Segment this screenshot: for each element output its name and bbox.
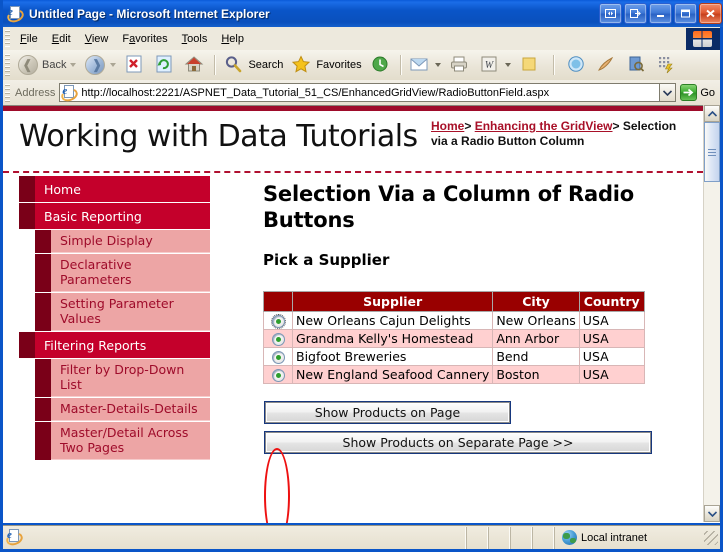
page-body: Home Basic Reporting Simple Display — [3, 173, 703, 521]
restore-pane-button[interactable] — [599, 3, 622, 24]
refresh-icon — [154, 54, 176, 76]
resize-grip[interactable] — [704, 531, 718, 545]
sidebar-accent-bar — [35, 422, 51, 460]
sidebar-item-filter-by-drop-down-list[interactable]: Filter by Drop-Down List — [19, 359, 210, 397]
title-bar: e Untitled Page - Microsoft Internet Exp… — [3, 0, 723, 27]
content-heading: Selection Via a Column of Radio Buttons — [263, 181, 681, 233]
cell-city: New Orleans — [493, 312, 579, 330]
sidebar-item-master-details-details[interactable]: Master-Details-Details — [19, 398, 210, 421]
column-header-country: Country — [579, 292, 644, 312]
addressbar-grip[interactable] — [5, 84, 10, 102]
sidebar-accent-bar — [35, 230, 51, 253]
edit-word-icon: W — [479, 54, 501, 76]
radio-button-row-4[interactable] — [272, 369, 285, 382]
sidebar-accent-bar — [35, 398, 51, 421]
encarta-icon — [656, 54, 678, 76]
menu-bar: File Edit View Favorites Tools Help — [3, 27, 720, 51]
home-icon — [184, 54, 206, 76]
sidebar-indent — [19, 293, 35, 331]
toolbar-separator — [214, 55, 215, 75]
show-products-on-page-button[interactable]: Show Products on Page — [265, 402, 510, 423]
chevron-down-icon — [663, 90, 672, 96]
sidebar-indent — [19, 422, 35, 460]
history-icon — [370, 54, 392, 76]
page-canvas: Working with Data Tutorials Home> Enhanc… — [3, 106, 703, 523]
stop-icon — [124, 54, 146, 76]
breadcrumb-sep-1: > — [464, 119, 471, 133]
breadcrumb-sep-2: > — [613, 119, 620, 133]
sidebar-item-declarative-parameters[interactable]: Declarative Parameters — [19, 254, 210, 292]
notes-icon — [519, 54, 541, 76]
cell-country: USA — [579, 366, 644, 384]
column-header-supplier: Supplier — [293, 292, 493, 312]
page-status-icon: e — [7, 529, 24, 546]
favorites-label: Favorites — [316, 59, 361, 71]
cell-supplier: New England Seafood Cannery — [293, 366, 493, 384]
favorites-button[interactable]: Favorites — [288, 53, 364, 77]
menu-favorites[interactable]: Favorites — [115, 30, 174, 48]
sidebar-label: Master-Details-Details — [51, 398, 210, 421]
menu-tools[interactable]: Tools — [175, 30, 215, 48]
back-label: Back — [42, 59, 66, 71]
breadcrumb-link-home[interactable]: Home — [431, 119, 464, 133]
status-segment-1 — [466, 527, 488, 549]
toolbar-separator-3 — [553, 55, 554, 75]
page-title: Working with Data Tutorials — [19, 119, 418, 154]
radio-button-row-1[interactable] — [272, 315, 285, 328]
cell-supplier: Grandma Kelly's Homestead — [293, 330, 493, 348]
security-zone-indicator[interactable]: Local intranet — [554, 527, 704, 549]
mail-icon — [409, 54, 431, 76]
address-url-text: http://localhost:2221/ASPNET_Data_Tutori… — [81, 87, 659, 99]
sidebar-item-setting-parameter-values[interactable]: Setting Parameter Values — [19, 293, 210, 331]
row-select-cell[interactable] — [264, 366, 293, 384]
window-title: Untitled Page - Microsoft Internet Explo… — [29, 7, 270, 21]
table-row: Grandma Kelly's Homestead Ann Arbor USA — [264, 330, 645, 348]
messenger-button[interactable] — [563, 53, 591, 77]
go-button[interactable]: Go — [676, 84, 720, 101]
cell-supplier: Bigfoot Breweries — [293, 348, 493, 366]
breadcrumb-link-enhancing-gridview[interactable]: Enhancing the GridView — [475, 119, 613, 133]
radio-button-row-3[interactable] — [272, 351, 285, 364]
sidebar-item-master-detail-across-two-pages[interactable]: Master/Detail Across Two Pages — [19, 422, 210, 460]
scroll-down-button[interactable] — [704, 505, 720, 522]
sidebar-item-simple-display[interactable]: Simple Display — [19, 230, 210, 253]
sidebar-indent — [19, 398, 35, 421]
thumb-grip-icon — [708, 149, 716, 156]
main-content: Selection Via a Column of Radio Buttons … — [261, 173, 681, 462]
cell-country: USA — [579, 312, 644, 330]
sidebar-label: Basic Reporting — [35, 209, 142, 224]
chevron-up-icon — [708, 111, 717, 117]
address-label: Address — [13, 87, 59, 99]
vertical-scrollbar[interactable] — [703, 105, 720, 522]
forward-button[interactable]: ❱ — [81, 53, 119, 77]
address-bar: Address e http://localhost:2221/ASPNET_D… — [3, 80, 720, 106]
menu-view[interactable]: View — [78, 30, 116, 48]
sidebar-label: Master/Detail Across Two Pages — [51, 422, 210, 460]
sidebar-accent-bar — [35, 254, 51, 292]
favorites-star-icon — [291, 54, 313, 76]
sidebar-label: Filtering Reports — [35, 338, 146, 353]
close-button[interactable] — [699, 3, 722, 24]
sidebar-accent-bar — [19, 176, 35, 202]
history-button[interactable] — [367, 53, 395, 77]
status-bar: e Local intranet — [3, 525, 720, 549]
notes-button[interactable] — [516, 53, 544, 77]
search-icon — [223, 54, 245, 76]
menu-edit[interactable]: Edit — [45, 30, 78, 48]
content-subheading: Pick a Supplier — [263, 251, 681, 269]
table-row: New Orleans Cajun Delights New Orleans U… — [264, 312, 645, 330]
column-header-select — [264, 292, 293, 312]
toolbar-separator-2 — [400, 55, 401, 75]
windows-logo-icon — [686, 28, 720, 50]
menu-file[interactable]: File — [13, 30, 45, 48]
edit-dropdown-icon[interactable] — [505, 63, 511, 67]
status-segment-4 — [532, 527, 554, 549]
address-dropdown-button[interactable] — [659, 83, 676, 102]
search-label: Search — [248, 59, 283, 71]
globe-icon — [562, 530, 577, 545]
pencil-icon — [596, 54, 618, 76]
sidebar-indent — [19, 230, 35, 253]
row-select-cell[interactable] — [264, 348, 293, 366]
window-controls — [599, 3, 723, 24]
column-header-city: City — [493, 292, 579, 312]
mail-dropdown-icon[interactable] — [435, 63, 441, 67]
messenger-icon — [566, 54, 588, 76]
pencil-button[interactable] — [593, 53, 621, 77]
sidebar-nav: Home Basic Reporting Simple Display — [19, 176, 210, 461]
toolbar: ❰ Back ❱ — [3, 50, 720, 81]
status-message-area: e — [3, 529, 466, 546]
print-button[interactable] — [446, 53, 474, 77]
minimize-button[interactable] — [649, 3, 672, 24]
table-header-row: Supplier City Country — [264, 292, 645, 312]
forward-icon: ❱ — [84, 54, 106, 76]
sidebar-accent-bar — [19, 332, 35, 358]
menu-help[interactable]: Help — [214, 30, 251, 48]
forward-dropdown-icon[interactable] — [110, 63, 116, 67]
sidebar-indent — [19, 254, 35, 292]
search-button[interactable]: Search — [220, 53, 286, 77]
cell-supplier: New Orleans Cajun Delights — [293, 312, 493, 330]
sidebar-item-filtering-reports[interactable]: Filtering Reports — [19, 332, 210, 358]
radio-button-row-2[interactable] — [272, 333, 285, 346]
research-button[interactable] — [623, 53, 651, 77]
cell-city: Boston — [493, 366, 579, 384]
toolbar-grip[interactable] — [5, 54, 10, 76]
sidebar-item-basic-reporting[interactable]: Basic Reporting — [19, 203, 210, 229]
research-icon — [626, 54, 648, 76]
cell-city: Ann Arbor — [493, 330, 579, 348]
sidebar-accent-bar — [19, 203, 35, 229]
suppliers-gridview: Supplier City Country New Orleans Cajun … — [263, 291, 645, 384]
edit-word-button[interactable]: W — [476, 53, 514, 77]
favicon-icon: e — [62, 85, 78, 101]
go-label: Go — [700, 87, 715, 99]
scrollbar-thumb[interactable] — [704, 122, 720, 182]
refresh-button[interactable] — [151, 53, 179, 77]
mail-button[interactable] — [406, 53, 444, 77]
page-viewport: Working with Data Tutorials Home> Enhanc… — [3, 105, 720, 523]
sidebar-indent — [19, 359, 35, 397]
encarta-button[interactable] — [653, 53, 681, 77]
go-arrow-icon — [680, 84, 697, 101]
table-row: New England Seafood Cannery Boston USA — [264, 366, 645, 384]
home-button[interactable] — [181, 53, 209, 77]
scroll-up-button[interactable] — [704, 105, 720, 122]
back-icon: ❰ — [17, 54, 39, 76]
sidebar-accent-bar — [35, 359, 51, 397]
maximize-button[interactable] — [674, 3, 697, 24]
chevron-down-icon — [708, 511, 717, 517]
row-select-cell[interactable] — [264, 330, 293, 348]
sidebar-item-home[interactable]: Home — [19, 176, 210, 202]
security-zone-label: Local intranet — [581, 532, 647, 544]
show-products-on-separate-page-button[interactable]: Show Products on Separate Page >> — [265, 432, 651, 453]
back-dropdown-icon[interactable] — [70, 63, 76, 67]
address-input[interactable]: e http://localhost:2221/ASPNET_Data_Tuto… — [59, 83, 659, 102]
table-row: Bigfoot Breweries Bend USA — [264, 348, 645, 366]
cell-country: USA — [579, 330, 644, 348]
detach-button[interactable] — [624, 3, 647, 24]
sidebar-label: Setting Parameter Values — [51, 293, 210, 331]
stop-button[interactable] — [121, 53, 149, 77]
sidebar-accent-bar — [35, 293, 51, 331]
print-icon — [449, 54, 471, 76]
row-select-cell[interactable] — [264, 312, 293, 330]
sidebar-label: Simple Display — [51, 230, 210, 253]
breadcrumb: Home> Enhancing the GridView> Selection … — [431, 119, 686, 149]
sidebar-label: Declarative Parameters — [51, 254, 210, 292]
status-segment-2 — [488, 527, 510, 549]
status-segment-3 — [510, 527, 532, 549]
sidebar-label: Filter by Drop-Down List — [51, 359, 210, 397]
app-icon: e — [8, 6, 24, 22]
page-header: Working with Data Tutorials Home> Enhanc… — [3, 111, 703, 173]
cell-city: Bend — [493, 348, 579, 366]
menubar-grip[interactable] — [5, 30, 10, 47]
cell-country: USA — [579, 348, 644, 366]
sidebar-label: Home — [35, 182, 81, 197]
back-button[interactable]: ❰ Back — [14, 53, 79, 77]
browser-window: e Untitled Page - Microsoft Internet Exp… — [0, 0, 723, 552]
scrollbar-track[interactable] — [704, 122, 720, 505]
